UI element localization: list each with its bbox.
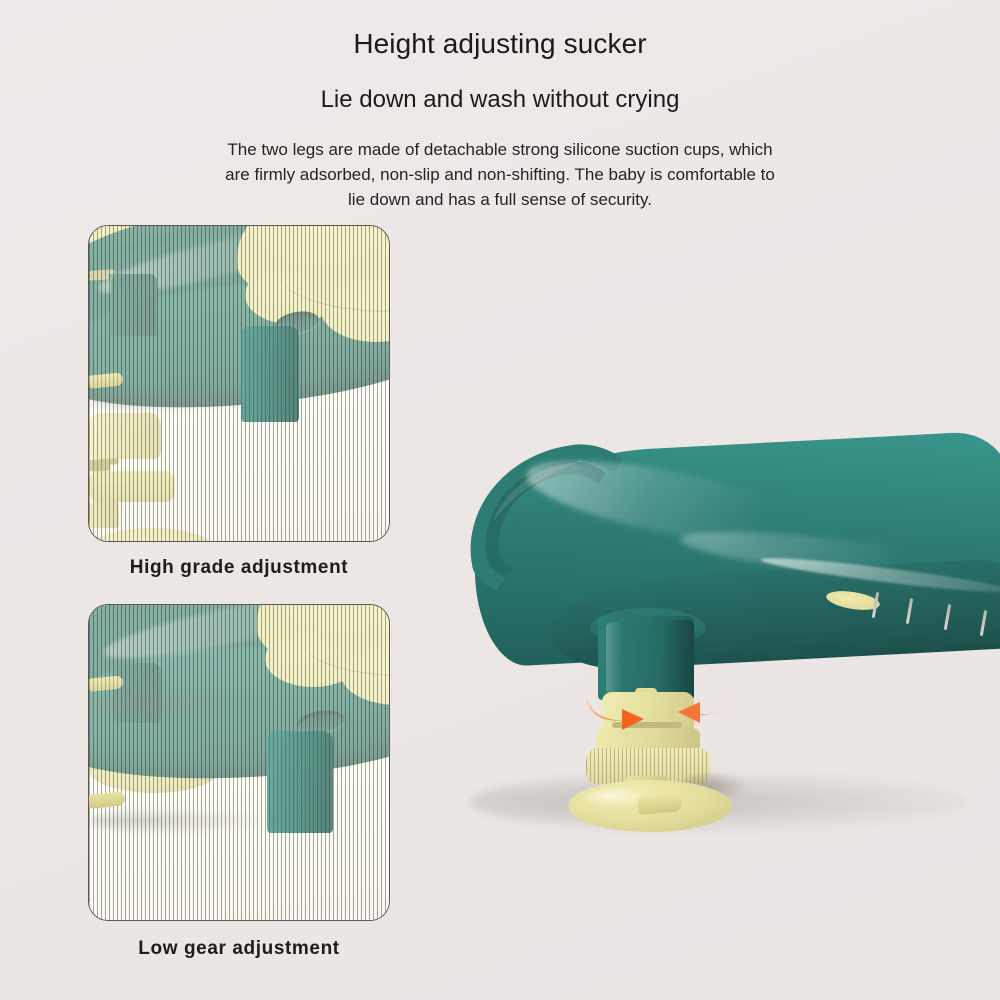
hero-product-photo <box>430 420 1000 890</box>
caption-high-grade: High grade adjustment <box>88 557 390 579</box>
knurl-ribs <box>89 716 175 747</box>
description-paragraph: The two legs are made of detachable stro… <box>220 138 780 213</box>
foot-shadow <box>89 807 279 835</box>
inset-photo-low-gear <box>88 604 390 921</box>
knurled-collar-front <box>89 471 175 502</box>
photo-low-gear <box>89 605 389 920</box>
product-feature-page: Height adjusting sucker Lie down and was… <box>0 0 1000 1000</box>
header-text-block: Height adjusting sucker Lie down and was… <box>0 0 1000 213</box>
page-title: Height adjusting sucker <box>0 28 1000 60</box>
curved-arrow-right-icon <box>580 682 654 736</box>
inset-photo-high-grade <box>88 225 390 542</box>
caption-low-gear: Low gear adjustment <box>88 938 390 960</box>
curved-arrow-left-icon <box>668 676 742 730</box>
photo-high-grade <box>89 226 389 541</box>
page-subtitle: Lie down and wash without crying <box>0 86 1000 114</box>
knurl-ribs <box>89 471 175 502</box>
knurled-collar-front <box>89 716 175 747</box>
